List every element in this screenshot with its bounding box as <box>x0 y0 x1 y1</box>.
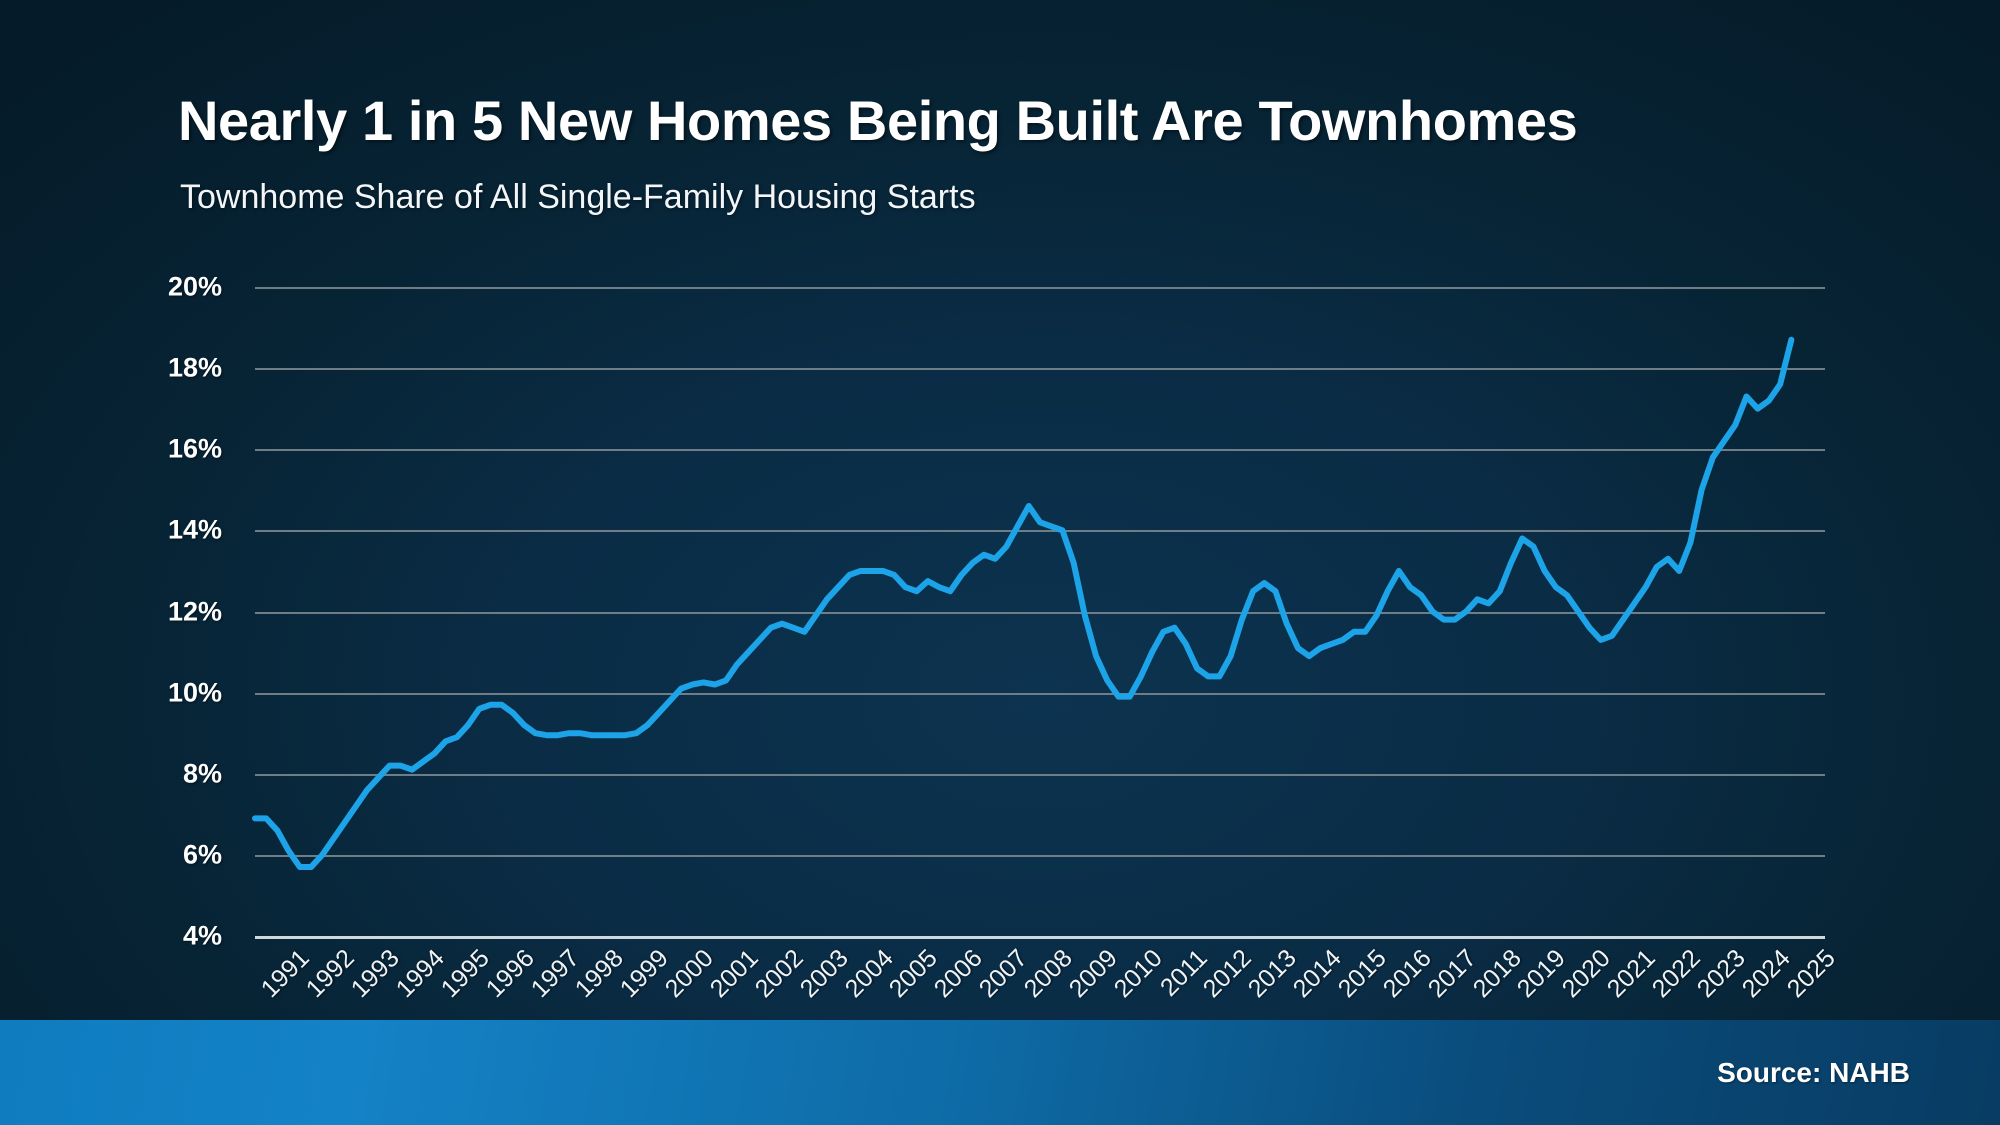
x-tick-label: 2021 <box>1602 944 1662 1004</box>
x-tick-label: 2016 <box>1378 944 1438 1004</box>
chart-canvas: Nearly 1 in 5 New Homes Being Built Are … <box>0 0 2000 1125</box>
x-tick-label: 1995 <box>436 944 496 1004</box>
footer-bar: Source: NAHB <box>0 1020 2000 1125</box>
x-tick-label: 1994 <box>391 944 451 1004</box>
x-tick-label: 2014 <box>1288 944 1348 1004</box>
page-subtitle: Townhome Share of All Single-Family Hous… <box>180 178 976 217</box>
x-tick-label: 2010 <box>1108 944 1168 1004</box>
plot-area <box>255 287 1825 936</box>
x-tick-label: 1996 <box>480 944 540 1004</box>
x-tick-label: 2000 <box>660 944 720 1004</box>
source-label: Source: NAHB <box>1717 1057 1910 1089</box>
x-tick-label: 2023 <box>1692 944 1752 1004</box>
x-tick-label: 2003 <box>794 944 854 1004</box>
line-series-svg <box>255 287 1825 936</box>
series-line-townhome-share <box>255 340 1791 867</box>
x-tick-label: 1998 <box>570 944 630 1004</box>
x-tick-label: 2009 <box>1064 944 1124 1004</box>
x-tick-label: 2022 <box>1647 944 1707 1004</box>
y-tick-label: 10% <box>168 677 222 708</box>
x-tick-label: 2015 <box>1333 944 1393 1004</box>
y-tick-label: 4% <box>183 921 222 952</box>
x-tick-label: 2005 <box>884 944 944 1004</box>
x-tick-label: 1991 <box>256 944 316 1004</box>
x-tick-label: 2007 <box>974 944 1034 1004</box>
x-tick-label: 1993 <box>346 944 406 1004</box>
x-tick-label: 1999 <box>615 944 675 1004</box>
gridline-4 <box>255 936 1825 939</box>
y-tick-label: 20% <box>168 272 222 303</box>
y-tick-label: 6% <box>183 839 222 870</box>
x-tick-label: 2025 <box>1781 944 1841 1004</box>
x-tick-label: 2017 <box>1422 944 1482 1004</box>
x-tick-label: 2013 <box>1243 944 1303 1004</box>
x-tick-label: 1992 <box>301 944 361 1004</box>
y-axis: 4%6%8%10%12%14%16%18%20% <box>0 287 240 936</box>
x-tick-label: 2006 <box>929 944 989 1004</box>
x-tick-label: 2018 <box>1467 944 1527 1004</box>
x-tick-label: 2020 <box>1557 944 1617 1004</box>
x-tick-label: 2019 <box>1512 944 1572 1004</box>
y-tick-label: 14% <box>168 515 222 546</box>
x-tick-label: 2001 <box>705 944 765 1004</box>
x-tick-label: 2012 <box>1198 944 1258 1004</box>
x-tick-label: 2002 <box>750 944 810 1004</box>
y-tick-label: 18% <box>168 353 222 384</box>
x-tick-label: 2011 <box>1155 944 1214 1003</box>
x-tick-label: 2004 <box>839 944 899 1004</box>
page-title: Nearly 1 in 5 New Homes Being Built Are … <box>178 88 1577 153</box>
x-tick-label: 2008 <box>1019 944 1079 1004</box>
x-tick-label: 1997 <box>525 944 585 1004</box>
y-tick-label: 12% <box>168 596 222 627</box>
y-tick-label: 8% <box>183 758 222 789</box>
y-tick-label: 16% <box>168 434 222 465</box>
x-tick-label: 2024 <box>1736 944 1796 1004</box>
